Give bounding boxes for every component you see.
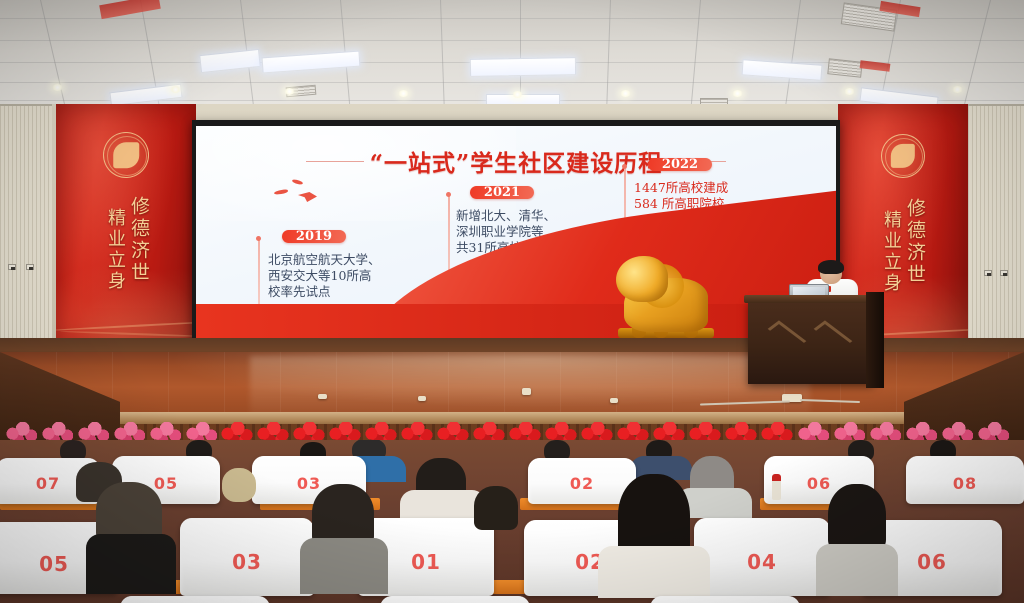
- stage-small-object: [318, 394, 327, 399]
- downlight: [512, 91, 523, 98]
- audience-head: [474, 486, 518, 530]
- seat-foreground-3[interactable]: [650, 596, 800, 603]
- audience-head: [828, 484, 886, 552]
- timeline-year-2019: 2019: [282, 230, 346, 243]
- seat-number: 03: [180, 550, 314, 574]
- timeline-year-2022: 2022: [648, 158, 712, 171]
- downlight: [284, 88, 295, 95]
- ceiling-red-fixture: [99, 0, 161, 19]
- auditorium-photo: 修德济世 精业立身 修德济世 精业立身 “一站式”学生社区建设历程 2019: [0, 0, 1024, 603]
- chevron-panel-decor: [814, 320, 853, 349]
- seat-number: 08: [906, 474, 1024, 493]
- title-rule-left: [306, 161, 364, 162]
- school-crest-emblem: [881, 134, 925, 178]
- water-bottle: [772, 474, 781, 500]
- stage-small-object: [610, 398, 618, 403]
- school-crest-emblem: [103, 132, 149, 178]
- audience-torso: [816, 544, 898, 596]
- seat-number: 02: [528, 474, 636, 493]
- audience-head: [222, 468, 256, 502]
- timeline-year-2021: 2021: [470, 186, 534, 199]
- seat-foreground-2[interactable]: [380, 596, 530, 603]
- golden-lion-statue: [614, 246, 718, 338]
- panel-light: [470, 57, 576, 77]
- downlight: [732, 90, 743, 97]
- downlight: [952, 86, 963, 93]
- wall-outlet: [26, 264, 34, 270]
- podium-side-panel: [866, 292, 884, 388]
- slide-title-row: “一站式”学生社区建设历程: [196, 144, 836, 178]
- projection-screen: “一站式”学生社区建设历程 2019 北京航空航天大学、 西安交大等10所高 校…: [192, 120, 840, 342]
- audience-torso: [86, 534, 176, 594]
- wall-outlet: [1000, 270, 1008, 276]
- panel-light: [199, 49, 261, 73]
- seat-back-4[interactable]: 02: [528, 458, 636, 504]
- bird-decoration: [274, 178, 326, 206]
- downlight: [52, 84, 63, 91]
- audience-torso: [598, 546, 710, 598]
- banner-wave-decor: [56, 248, 196, 344]
- seat-front-5[interactable]: 04: [694, 518, 830, 596]
- slide-title: “一站式”学生社区建设历程: [370, 144, 662, 178]
- audience-area: 07 05 03 02 06 08 05 03: [0, 440, 1024, 603]
- presentation-slide: “一站式”学生社区建设历程 2019 北京航空航天大学、 西安交大等10所高 校…: [196, 126, 836, 338]
- wall-outlet: [8, 264, 16, 270]
- slide-bottom-bar: [196, 304, 836, 338]
- stage-small-object: [522, 388, 531, 395]
- banner-left: 修德济世 精业立身: [56, 104, 196, 344]
- wall-outlet: [984, 270, 992, 276]
- podium: [748, 300, 874, 384]
- audience-torso: [300, 538, 388, 594]
- downlight: [170, 86, 181, 93]
- stage-small-object: [418, 396, 426, 401]
- seat-foreground-1[interactable]: [120, 596, 270, 603]
- hvac-vent: [827, 58, 862, 77]
- seat-front-2[interactable]: 03: [180, 518, 314, 596]
- downlight: [620, 90, 631, 97]
- seat-back-6[interactable]: 08: [906, 456, 1024, 504]
- seat-number: 04: [694, 550, 830, 574]
- downlight: [844, 88, 855, 95]
- downlight: [398, 90, 409, 97]
- chevron-panel-decor: [768, 320, 807, 349]
